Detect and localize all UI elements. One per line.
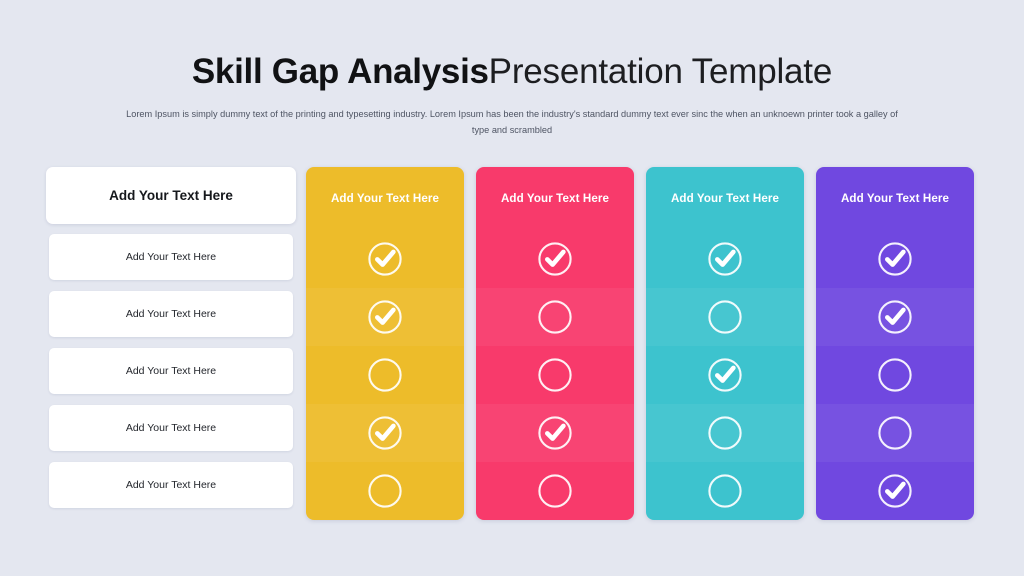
check-circle-icon[interactable]	[536, 414, 574, 452]
column-header-text: Add Your Text Here	[331, 192, 439, 205]
label-row[interactable]: Add Your Text Here	[49, 291, 293, 337]
check-circle-icon[interactable]	[536, 240, 574, 278]
empty-circle-icon[interactable]	[536, 298, 574, 336]
label-row[interactable]: Add Your Text Here	[49, 405, 293, 451]
subtitle-text: Lorem Ipsum is simply dummy text of the …	[117, 106, 907, 138]
column-header-text: Add Your Text Here	[841, 192, 949, 205]
label-column-header[interactable]: Add Your Text Here	[46, 167, 296, 224]
column-cell[interactable]	[476, 462, 634, 520]
page-title: Skill Gap AnalysisPresentation Template	[0, 52, 1024, 92]
check-circle-icon[interactable]	[366, 414, 404, 452]
slide-canvas: Skill Gap AnalysisPresentation Template …	[0, 0, 1024, 576]
column-cell[interactable]	[306, 230, 464, 288]
column-cell[interactable]	[646, 346, 804, 404]
label-row-text: Add Your Text Here	[126, 251, 216, 263]
empty-circle-icon[interactable]	[706, 472, 744, 510]
column-cell[interactable]	[816, 462, 974, 520]
column-header-text: Add Your Text Here	[501, 192, 609, 205]
empty-circle-icon[interactable]	[366, 356, 404, 394]
column-pink[interactable]: Add Your Text Here	[476, 167, 634, 520]
label-row[interactable]: Add Your Text Here	[49, 234, 293, 280]
column-header[interactable]: Add Your Text Here	[476, 167, 634, 230]
column-cell[interactable]	[646, 462, 804, 520]
check-circle-icon[interactable]	[366, 240, 404, 278]
column-yellow[interactable]: Add Your Text Here	[306, 167, 464, 520]
column-cell[interactable]	[816, 288, 974, 346]
column-header[interactable]: Add Your Text Here	[646, 167, 804, 230]
column-teal[interactable]: Add Your Text Here	[646, 167, 804, 520]
column-cell[interactable]	[476, 288, 634, 346]
check-circle-icon[interactable]	[706, 240, 744, 278]
label-row-text: Add Your Text Here	[126, 479, 216, 491]
column-purple[interactable]: Add Your Text Here	[816, 167, 974, 520]
column-cell[interactable]	[306, 288, 464, 346]
title-secondary: Presentation Template	[489, 52, 832, 91]
empty-circle-icon[interactable]	[706, 414, 744, 452]
label-row[interactable]: Add Your Text Here	[49, 348, 293, 394]
column-cell[interactable]	[476, 230, 634, 288]
column-cell[interactable]	[646, 288, 804, 346]
column-header-text: Add Your Text Here	[671, 192, 779, 205]
empty-circle-icon[interactable]	[536, 472, 574, 510]
column-header[interactable]: Add Your Text Here	[816, 167, 974, 230]
label-row-text: Add Your Text Here	[126, 308, 216, 320]
check-circle-icon[interactable]	[876, 240, 914, 278]
empty-circle-icon[interactable]	[876, 356, 914, 394]
column-header[interactable]: Add Your Text Here	[306, 167, 464, 230]
column-cell[interactable]	[306, 462, 464, 520]
column-cell[interactable]	[646, 230, 804, 288]
column-cell[interactable]	[476, 346, 634, 404]
column-cell[interactable]	[306, 404, 464, 462]
label-row-text: Add Your Text Here	[126, 365, 216, 377]
label-row-text: Add Your Text Here	[126, 422, 216, 434]
label-row[interactable]: Add Your Text Here	[49, 462, 293, 508]
check-circle-icon[interactable]	[876, 472, 914, 510]
comparison-board: Add Your Text Here Add Your Text Here Ad…	[46, 167, 978, 520]
empty-circle-icon[interactable]	[706, 298, 744, 336]
column-cell[interactable]	[476, 404, 634, 462]
check-circle-icon[interactable]	[706, 356, 744, 394]
check-circle-icon[interactable]	[366, 298, 404, 336]
empty-circle-icon[interactable]	[366, 472, 404, 510]
label-column-header-text: Add Your Text Here	[109, 188, 233, 203]
column-cell[interactable]	[306, 346, 464, 404]
check-circle-icon[interactable]	[876, 298, 914, 336]
column-cell[interactable]	[816, 230, 974, 288]
label-column: Add Your Text Here Add Your Text Here Ad…	[46, 167, 296, 520]
column-cell[interactable]	[816, 346, 974, 404]
title-emphasis: Skill Gap Analysis	[192, 52, 489, 91]
column-cell[interactable]	[646, 404, 804, 462]
column-cell[interactable]	[816, 404, 974, 462]
empty-circle-icon[interactable]	[876, 414, 914, 452]
empty-circle-icon[interactable]	[536, 356, 574, 394]
